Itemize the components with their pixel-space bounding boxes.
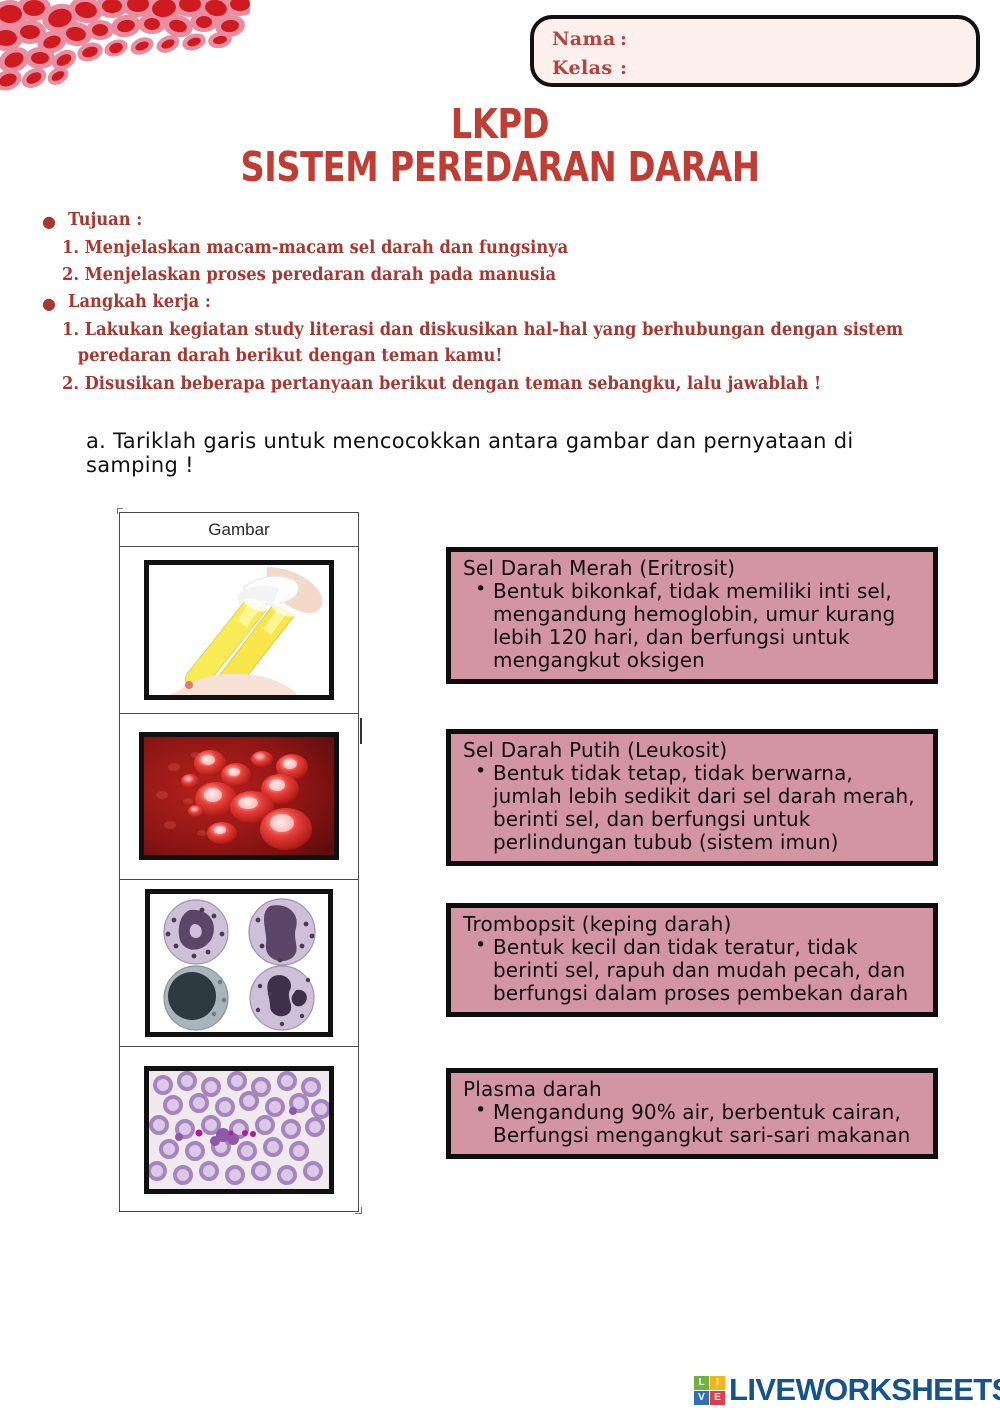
steps-heading: ● Langkah kerja : [34,294,954,314]
logo-tile-l: L [694,1376,709,1390]
table-row[interactable] [120,1047,358,1214]
red-blood-cells-image[interactable] [139,732,339,860]
page-title: LKPD SISTEM PEREDARAN DARAH [0,103,1000,190]
statement-bullet: Bentuk bikonkaf, tidak memiliki inti sel… [493,580,923,671]
objective-item-1: 1. Menjelaskan macam-macam sel darah dan… [62,237,892,259]
statement-bullets: Mengandung 90% air, berbentuk cairan, Be… [463,1101,923,1147]
title-line-1: LKPD [90,103,910,146]
objectives-label: Tujuan : [68,212,142,230]
question-text: Tariklah garis untuk mencocokkan antara … [86,429,854,477]
name-colon: : [620,28,627,50]
white-blood-cells-image[interactable] [145,889,333,1037]
gambar-table: Gambar [119,512,359,1212]
statement-box-leukosit[interactable]: Sel Darah Putih (Leukosit) Bentuk tidak … [446,729,938,866]
statement-bullets: Bentuk bikonkaf, tidak memiliki inti sel… [463,580,923,671]
class-row: Kelas : [552,53,976,82]
match-connector-tick[interactable] [360,718,362,744]
statement-bullet: Bentuk kecil dan tidak teratur, tidak be… [493,936,923,1004]
table-row[interactable] [120,547,358,714]
question-a: a. Tariklah garis untuk mencocokkan anta… [86,430,946,477]
name-label: Nama [552,28,620,50]
statement-title: Trombopsit (keping darah) [463,913,923,935]
class-colon: : [620,57,627,79]
gambar-column-header: Gambar [120,513,358,547]
platelets-blood-smear-image[interactable] [144,1066,334,1194]
step-item-2: 2. Disusikan beberapa pertanyaan berikut… [62,373,892,395]
statement-box-trombosit[interactable]: Trombopsit (keping darah) Bentuk kecil d… [446,903,938,1017]
name-row: Nama : [552,24,976,53]
statement-box-eritrosit[interactable]: Sel Darah Merah (Eritrosit) Bentuk bikon… [446,547,938,684]
statement-title: Plasma darah [463,1078,923,1100]
objectives-heading: ● Tujuan : [34,212,954,232]
blood-plasma-test-tubes-image[interactable] [144,560,334,700]
student-info-box: Nama : Kelas : [530,15,980,87]
statement-title: Sel Darah Merah (Eritrosit) [463,557,923,579]
title-line-2: SISTEM PEREDARAN DARAH [90,146,910,189]
statement-bullet: Mengandung 90% air, berbentuk cairan, Be… [493,1101,923,1147]
class-label: Kelas [552,57,620,79]
bullet-dot-icon: ● [34,212,68,232]
step-item-1-line-1: 1. Lakukan kegiatan study literasi dan d… [62,319,892,341]
intro-section: ● Tujuan : 1. Menjelaskan macam-macam se… [34,212,954,400]
table-row[interactable] [120,714,358,881]
blood-cells-decoration [0,0,250,95]
objective-item-2: 2. Menjelaskan proses peredaran darah pa… [62,264,892,286]
liveworksheets-logo[interactable]: L I V E LIVEWORKSHEETS [694,1372,1000,1408]
logo-tile-v: V [694,1391,709,1405]
logo-tile-i: I [710,1376,725,1390]
statement-bullets: Bentuk kecil dan tidak teratur, tidak be… [463,936,923,1004]
step-item-1-line-2: peredaran darah berikut dengan teman kam… [62,345,892,367]
bullet-dot-icon: ● [34,294,68,314]
question-letter: a. [86,429,106,453]
steps-label: Langkah kerja : [68,294,211,312]
liveworksheets-wordmark: LIVEWORKSHEETS [729,1372,1000,1408]
liveworksheets-tiles-icon: L I V E [694,1376,725,1405]
statement-box-plasma[interactable]: Plasma darah Mengandung 90% air, berbent… [446,1068,938,1159]
table-row[interactable] [120,880,358,1047]
statement-bullets: Bentuk tidak tetap, tidak berwarna, juml… [463,762,923,853]
logo-tile-e: E [710,1391,725,1405]
statement-title: Sel Darah Putih (Leukosit) [463,739,923,761]
statement-bullet: Bentuk tidak tetap, tidak berwarna, juml… [493,762,923,853]
